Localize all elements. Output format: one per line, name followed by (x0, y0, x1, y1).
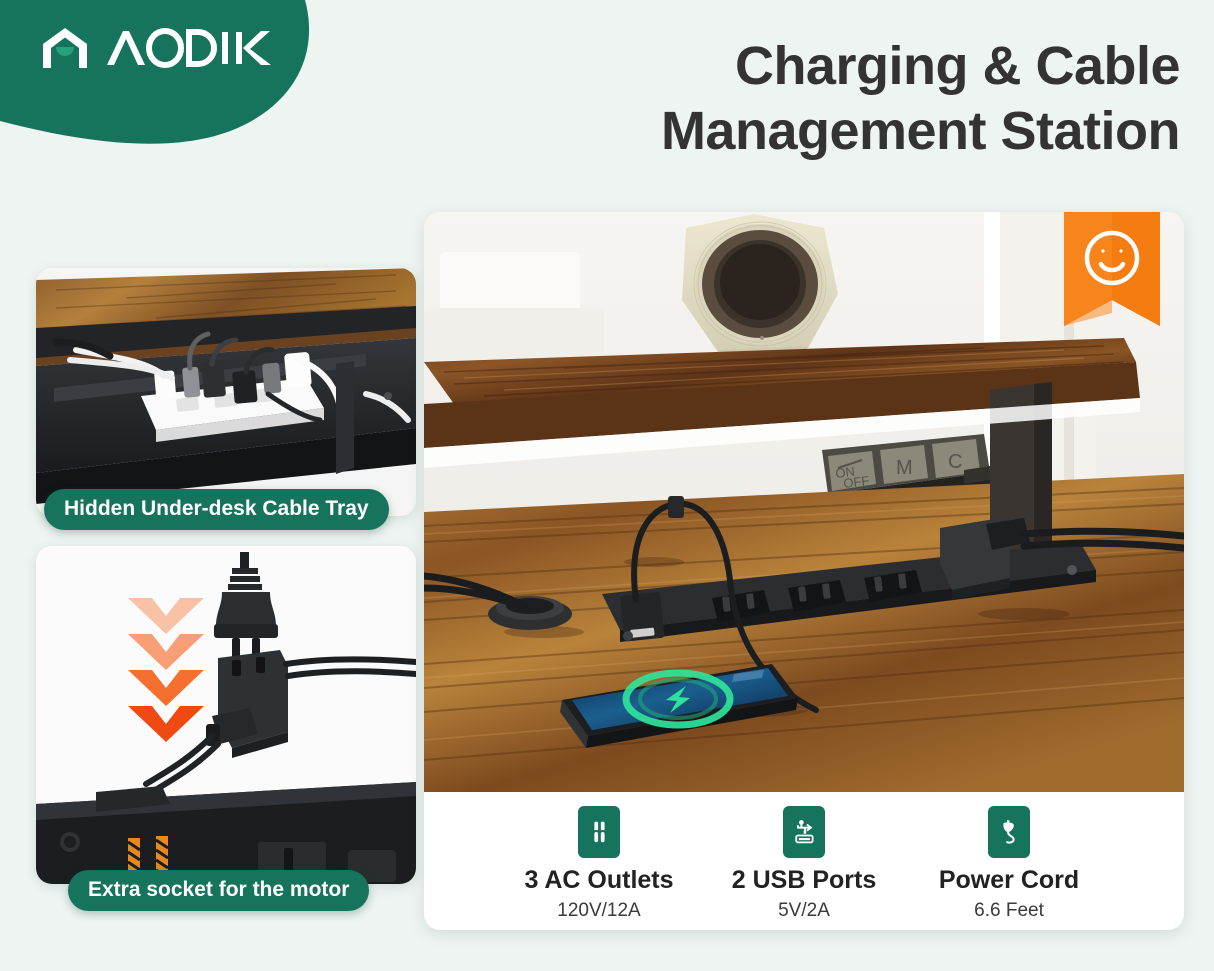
power-cord-icon (988, 806, 1030, 858)
title-line-2: Management Station (520, 99, 1180, 164)
feature-title: 3 AC Outlets (524, 867, 673, 895)
charging-bolt-icon (626, 673, 730, 725)
extra-socket-photo (36, 546, 416, 884)
title-line-1: Charging & Cable (520, 34, 1180, 99)
cable-tray-photo (36, 268, 416, 516)
cable-tray-caption: Hidden Under-desk Cable Tray (44, 489, 389, 530)
cable-tray-illustration (36, 268, 416, 516)
feature-title: Power Cord (939, 867, 1079, 895)
svg-text:M: M (896, 457, 913, 479)
feature-usb-ports: 2 USB Ports 5V/2A (702, 806, 907, 922)
svg-text:OFF: OFF (843, 473, 871, 491)
cable-tray-card (36, 268, 416, 516)
charging-station-hero: ON OFF M C (424, 212, 1184, 792)
main-product-card: ON OFF M C (424, 212, 1184, 930)
feature-ac-outlets: 3 AC Outlets 120V/12A (497, 806, 702, 922)
brand-wordmark (103, 25, 303, 69)
house-arch-icon (38, 24, 94, 70)
smiley-badge (1064, 212, 1160, 326)
feature-power-cord: Power Cord 6.6 Feet (907, 806, 1112, 922)
ac-outlet-icon (578, 806, 620, 858)
feature-strip: 3 AC Outlets 120V/12A (424, 792, 1184, 930)
page-title: Charging & Cable Management Station (520, 34, 1180, 164)
feature-subtitle: 5V/2A (778, 900, 830, 922)
extra-socket-illustration (36, 546, 416, 884)
feature-subtitle: 6.6 Feet (974, 900, 1044, 922)
brand-logo (38, 24, 303, 70)
usb-port-icon (783, 806, 825, 858)
desk-surface (424, 474, 1184, 792)
feature-subtitle: 120V/12A (557, 900, 640, 922)
extra-socket-card (36, 546, 416, 884)
extra-socket-caption: Extra socket for the motor (68, 870, 369, 911)
svg-text:C: C (948, 451, 962, 473)
infographic-stage: Charging & Cable Management Station (0, 0, 1214, 971)
feature-title: 2 USB Ports (732, 867, 876, 895)
